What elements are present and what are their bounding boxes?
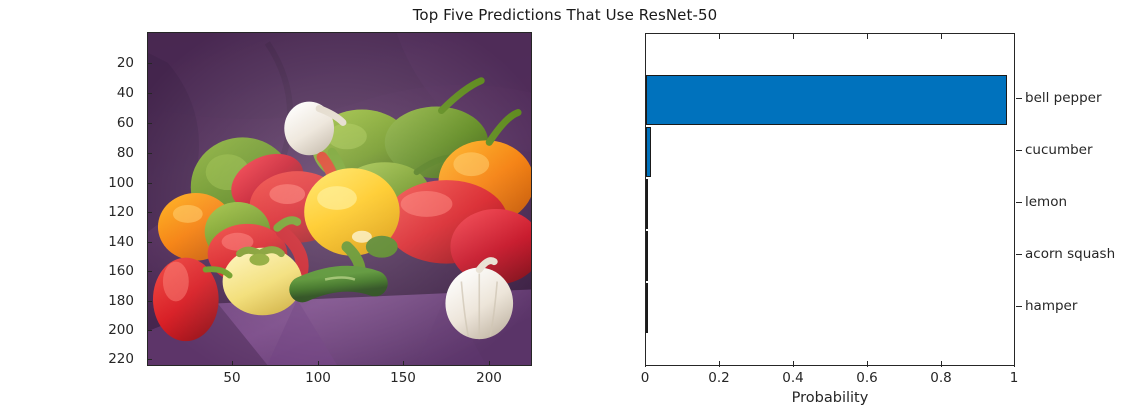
predictions-bar-axes [645,33,1015,366]
img-ytick-mark [147,93,152,94]
img-ytick-mark [147,153,152,154]
img-ytick-label-200: 200 [0,322,134,338]
img-ytick-mark [147,242,152,243]
img-ytick-label-100: 100 [0,175,134,191]
bar-category-label-acorn-squash: acorn squash [1025,246,1115,262]
bar-category-label-cucumber: cucumber [1025,142,1093,158]
bar-xtick-label-08: 0.8 [930,370,951,386]
bar-xtick-label-0: 0 [641,370,650,386]
bar-xtick-mark-top [941,34,942,39]
bar-xtick-mark [719,361,720,367]
img-ytick-label-40: 40 [0,85,134,101]
bar-xtick-mark [1014,361,1015,367]
bar-xtick-mark-top [793,34,794,39]
img-xtick-label-150: 150 [390,370,416,386]
img-xtick-label-50: 50 [223,370,240,386]
figure-title: Top Five Predictions That Use ResNet-50 [0,6,1130,24]
bar-xtick-label-1: 1 [1010,370,1019,386]
bar-xtick-mark [941,361,942,367]
img-ytick-label-120: 120 [0,204,134,220]
bar-acorn-squash [646,231,648,281]
bar-ytick-mark [1016,98,1022,99]
bar-xtick-mark [867,361,868,367]
bar-ytick-mark [1016,306,1022,307]
img-xtick-mark [232,361,233,366]
img-ytick-mark [147,301,152,302]
bar-xaxis-title: Probability [792,390,869,406]
bar-ytick-mark [1016,202,1022,203]
img-ytick-label-140: 140 [0,234,134,250]
img-xtick-mark [403,361,404,366]
img-ytick-label-180: 180 [0,293,134,309]
img-xtick-mark [318,361,319,366]
img-ytick-label-80: 80 [0,145,134,161]
img-ytick-mark [147,271,152,272]
img-ytick-mark [147,63,152,64]
bar-ytick-mark [1016,150,1022,151]
img-ytick-mark [147,359,152,360]
bar-hamper [646,283,648,333]
peppers-image-axes [147,32,532,366]
img-ytick-label-220: 220 [0,351,134,367]
img-ytick-mark [147,330,152,331]
bar-bell-pepper [646,75,1007,125]
bar-category-label-bell-pepper: bell pepper [1025,90,1102,106]
img-ytick-label-20: 20 [0,55,134,71]
img-xtick-label-200: 200 [476,370,502,386]
bar-lemon [646,179,648,229]
bar-xtick-mark [793,361,794,367]
bar-xtick-label-06: 0.6 [856,370,877,386]
img-ytick-mark [147,212,152,213]
img-xtick-mark [489,361,490,366]
bar-ytick-mark [1016,254,1022,255]
img-ytick-label-160: 160 [0,263,134,279]
img-xtick-label-100: 100 [305,370,331,386]
img-ytick-mark [147,183,152,184]
bar-xtick-mark-top [719,34,720,39]
bar-cucumber [646,127,651,177]
matlab-figure-window: Top Five Predictions That Use ResNet-50 [0,0,1130,413]
bar-xtick-mark [645,361,646,367]
peppers-photo [148,33,531,365]
bar-category-label-hamper: hamper [1025,298,1077,314]
bar-category-label-lemon: lemon [1025,194,1067,210]
img-ytick-label-60: 60 [0,115,134,131]
bar-xtick-label-04: 0.4 [782,370,803,386]
img-ytick-mark [147,123,152,124]
bar-xtick-label-02: 0.2 [708,370,729,386]
bar-xtick-mark-top [867,34,868,39]
